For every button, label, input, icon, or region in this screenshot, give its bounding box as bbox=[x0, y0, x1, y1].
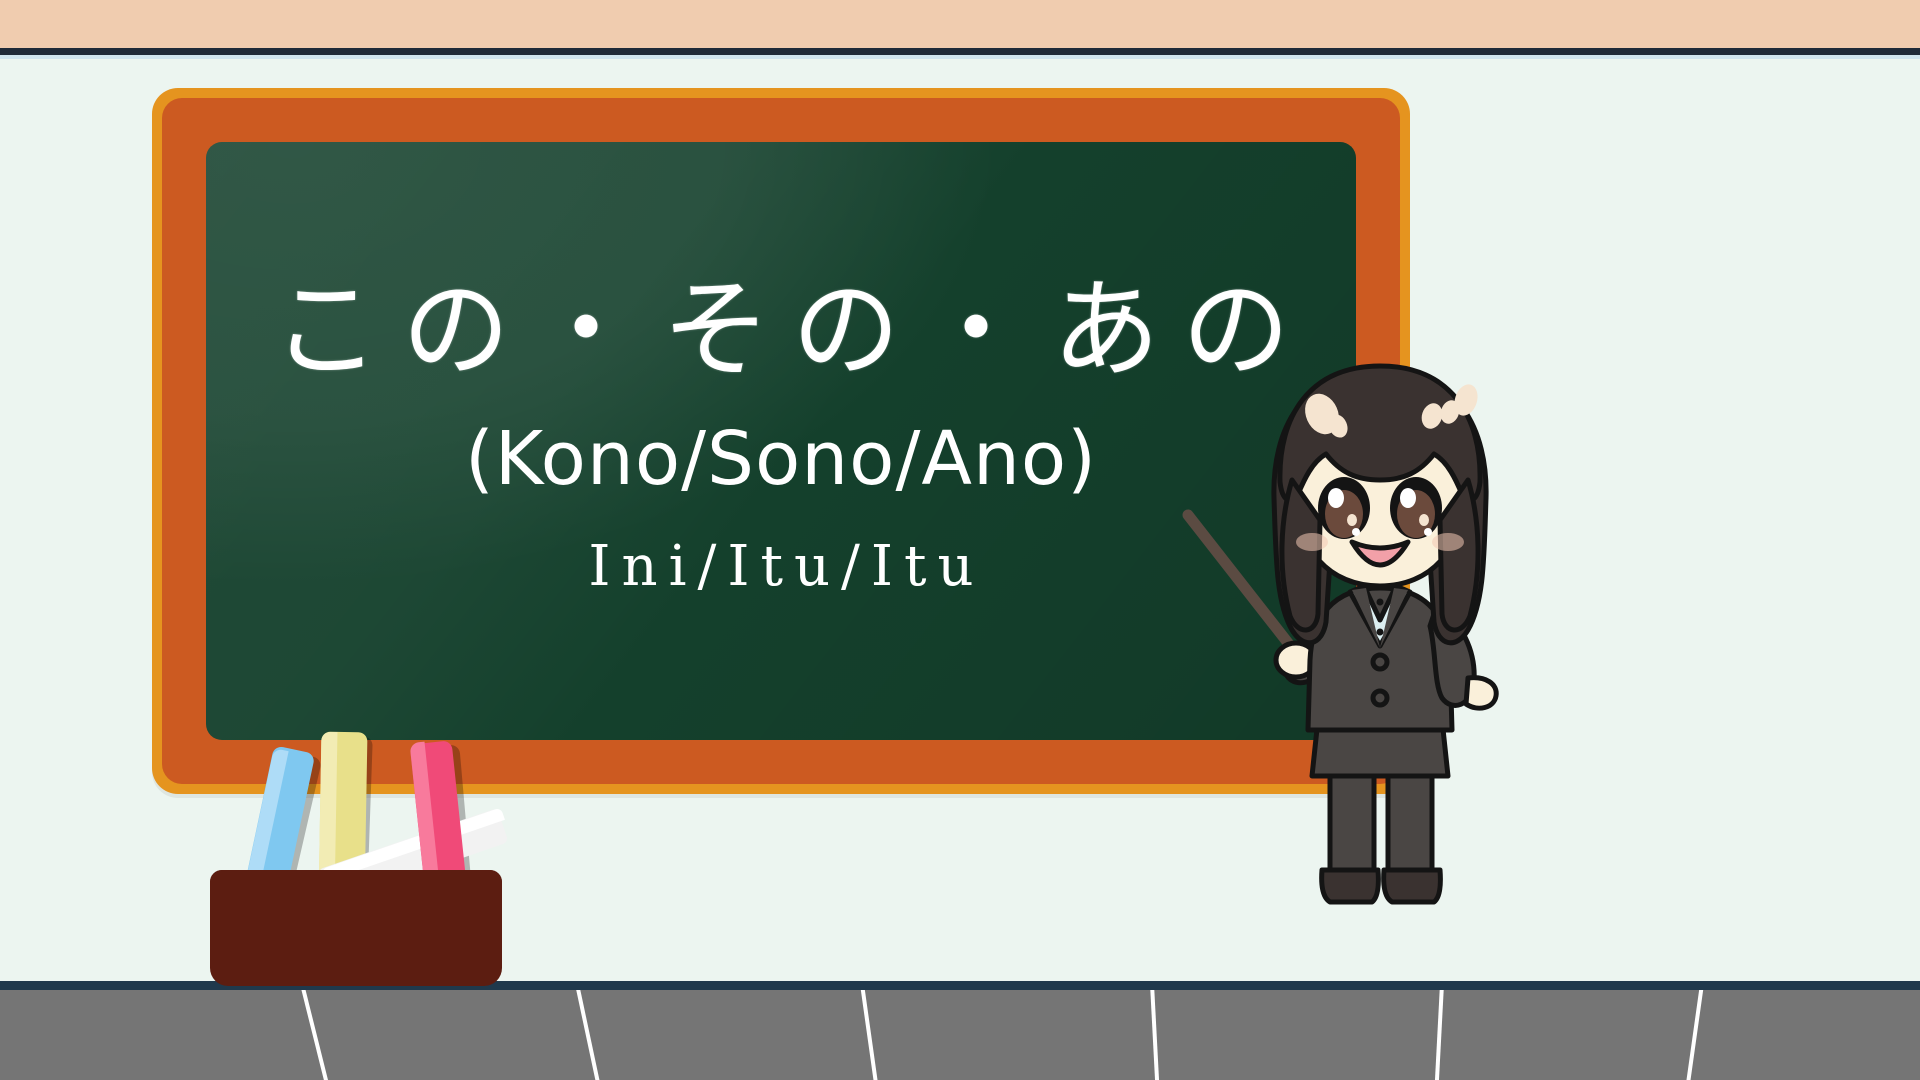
teacher-shirt-button bbox=[1377, 599, 1384, 606]
teacher-left-eye-sparkle bbox=[1352, 528, 1360, 536]
teacher-right-eye-glint bbox=[1400, 488, 1416, 508]
teacher-right-eye-glint-small bbox=[1419, 514, 1429, 526]
scene-canvas: この・その・あの (Kono/Sono/Ano) Ini/Itu/Itu bbox=[0, 0, 1920, 1080]
chalk-tray-box bbox=[210, 870, 502, 986]
title-japanese: この・その・あの bbox=[250, 274, 1312, 388]
ceiling-trim-line bbox=[0, 48, 1920, 55]
teacher-right-hand bbox=[1466, 678, 1496, 708]
chalk-tray bbox=[200, 700, 520, 1000]
teacher-right-blush bbox=[1432, 533, 1464, 551]
teacher-left-eye-glint-small bbox=[1347, 514, 1357, 526]
floor-tile-line bbox=[1150, 990, 1160, 1080]
floor-tile-line bbox=[1434, 990, 1444, 1080]
teacher-suit-button bbox=[1373, 655, 1387, 669]
subtitle-romaji: (Kono/Sono/Ano) bbox=[465, 416, 1097, 502]
ceiling-band bbox=[0, 0, 1920, 48]
floor-tile-line bbox=[1685, 990, 1704, 1080]
floor-tile-line bbox=[860, 990, 879, 1080]
translation-indonesian: Ini/Itu/Itu bbox=[577, 534, 984, 599]
teacher-left-shoe bbox=[1322, 870, 1379, 902]
teacher-avatar-icon bbox=[1180, 330, 1580, 930]
floor-tile-line bbox=[300, 990, 330, 1080]
teacher-left-eye-glint bbox=[1328, 488, 1344, 508]
teacher-left-blush bbox=[1296, 533, 1328, 551]
teacher-right-eye-sparkle bbox=[1424, 528, 1432, 536]
floor-tile-line bbox=[575, 990, 602, 1080]
teacher-right-shoe bbox=[1384, 870, 1441, 902]
classroom-floor bbox=[0, 990, 1920, 1080]
teacher-suit-button bbox=[1373, 691, 1387, 705]
teacher-shirt-button bbox=[1377, 629, 1384, 636]
